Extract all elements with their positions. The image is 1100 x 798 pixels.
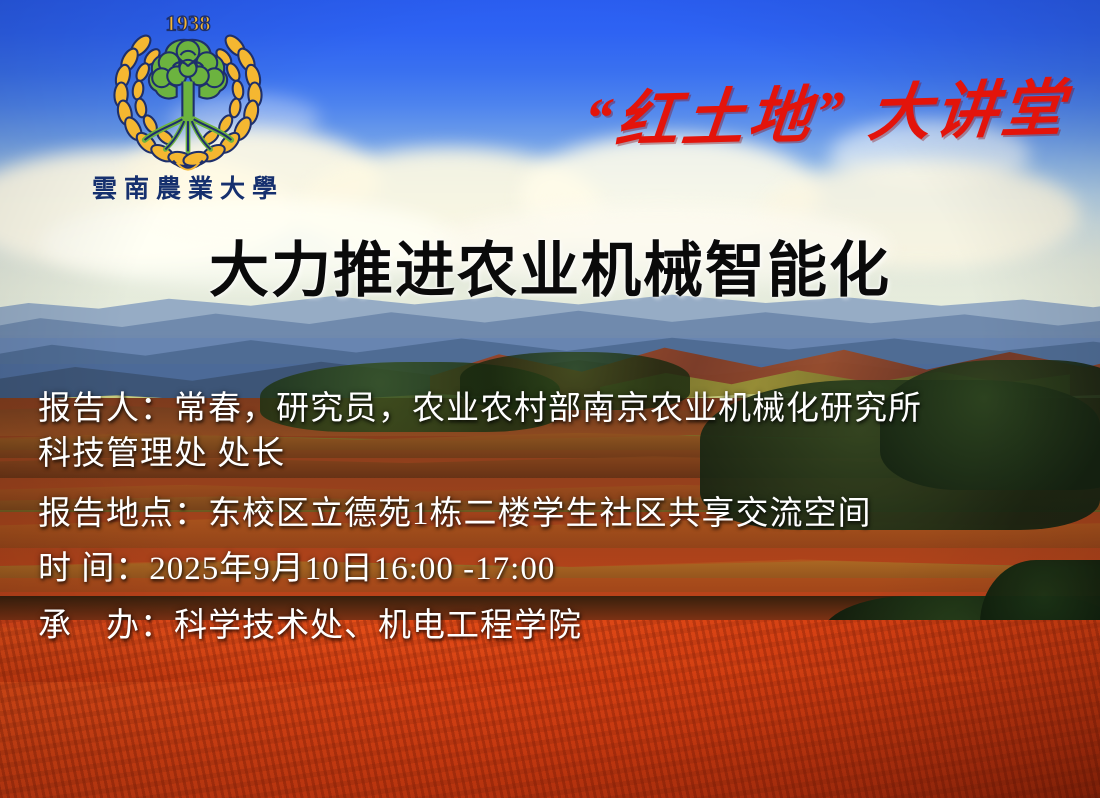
founding-year-text: 1938 [165,11,210,36]
university-emblem-icon: 1938 [93,8,283,173]
university-logo: 1938 [88,8,288,205]
speaker-label: 报告人： [38,391,174,427]
university-name-text: 雲南農業大學 [88,169,288,205]
time-label: 时 间： [38,551,149,587]
quote-close: ” [812,80,850,143]
speaker-line-continued: 科技管理处 处长 [38,431,1038,478]
speaker-value: 常春，研究员，农业农村部南京农业机械化研究所 [174,391,922,427]
lecture-poster: 1938 [0,0,1100,798]
host-line: 承 办：科学技术处、机电工程学院 [38,603,1038,650]
lecture-details: 报告人：常春，研究员，农业农村部南京农业机械化研究所 科技管理处 处长 报告地点… [38,386,1038,650]
location-value: 东校区立德苑1栋二楼学生社区共享交流空间 [208,496,872,532]
series-suffix: 大讲堂 [866,75,1071,149]
location-label: 报告地点： [38,496,208,532]
host-value: 科学技术处、机电工程学院 [174,608,582,644]
page-title: 大力推进农业机械智能化 [0,222,1100,309]
series-title: “红土地”大讲堂 [580,55,1071,168]
series-keyword: 红土地 [613,82,818,156]
host-label: 承 办： [38,608,174,644]
speaker-line: 报告人：常春，研究员，农业农村部南京农业机械化研究所 [38,386,1038,433]
location-line: 报告地点：东校区立德苑1栋二楼学生社区共享交流空间 [38,491,1038,538]
time-value: 2025年9月10日16:00 -17:00 [149,551,555,587]
poster-content: 1938 [0,0,1100,798]
time-line: 时 间：2025年9月10日16:00 -17:00 [38,546,1038,593]
